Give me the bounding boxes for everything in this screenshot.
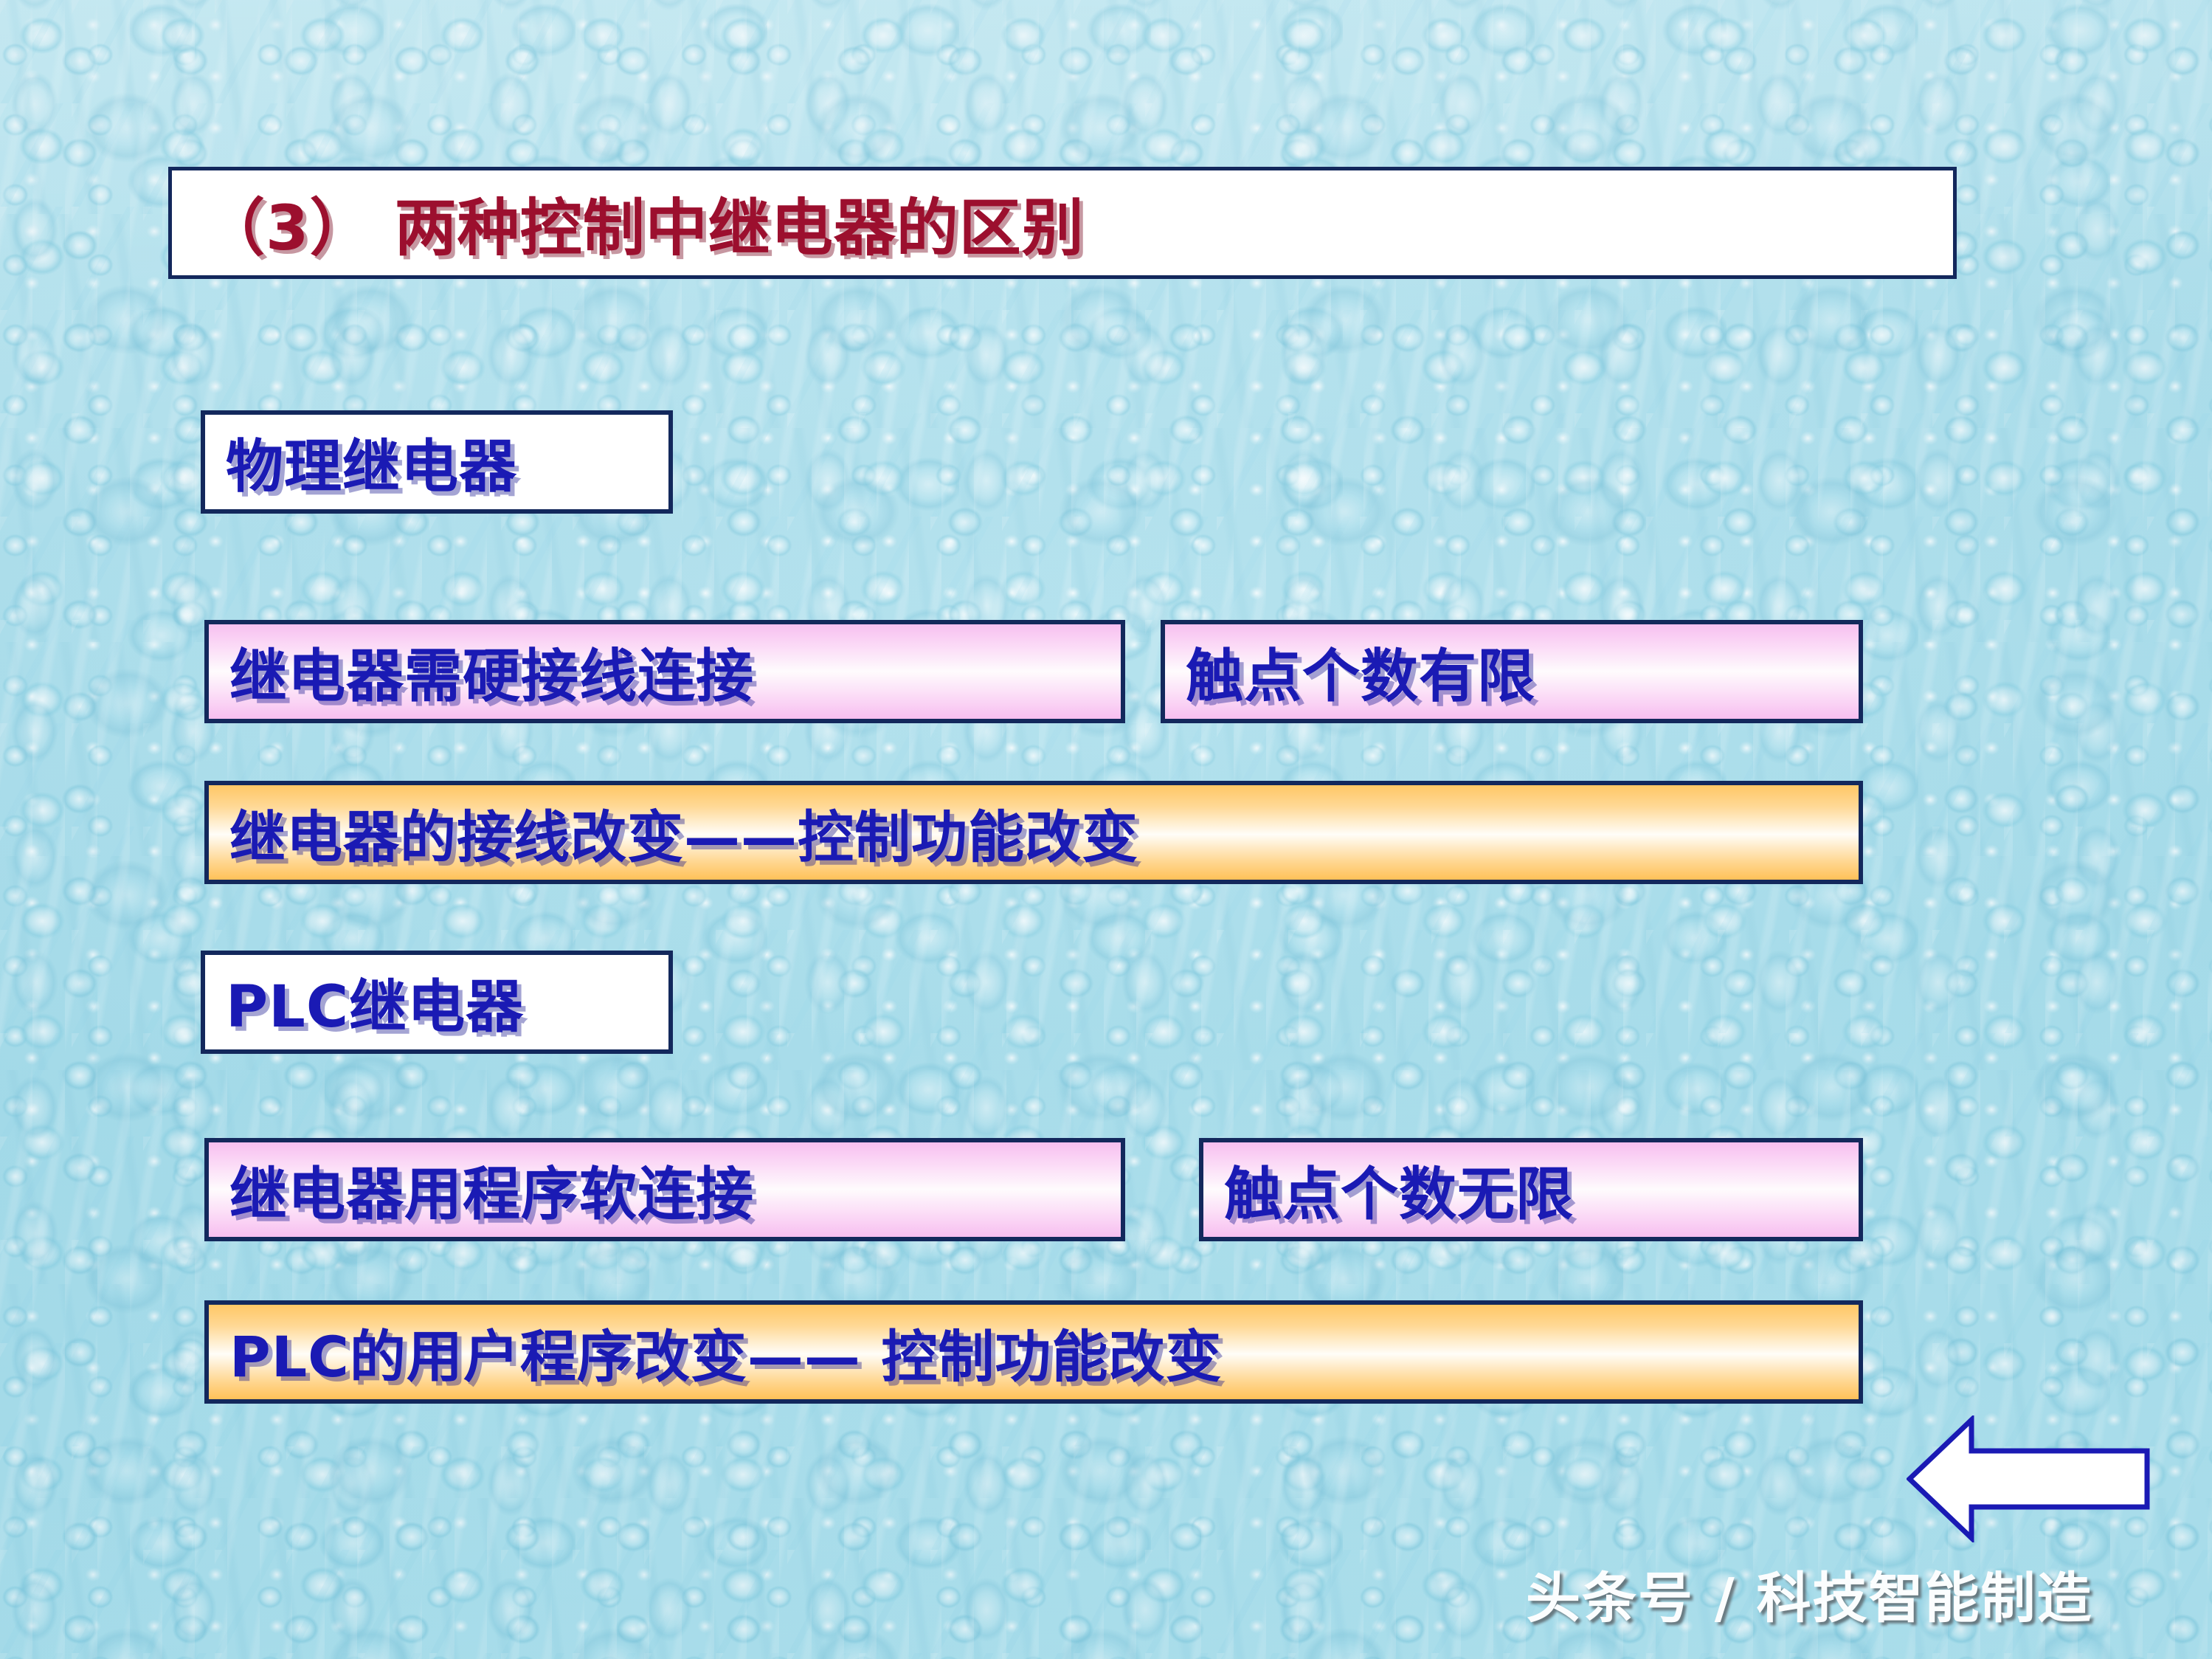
item-physical-wiring-change: 继电器的接线改变——控制功能改变 [204,781,1863,884]
page-title: （3） 两种控制中继电器的区别 [172,179,1085,268]
section-heading-physical-relay: 物理继电器 [201,410,673,514]
item-label: 触点个数有限 [1165,630,1535,713]
section-heading-plc-relay: PLC继电器 [201,951,673,1054]
item-physical-contact-limited: 触点个数有限 [1161,620,1863,723]
watermark: 头条号 / 科技智能制造 [1526,1554,2093,1633]
item-plc-program-change: PLC的用户程序改变—— 控制功能改变 [204,1300,1863,1404]
item-label: 继电器需硬接线连接 [209,630,754,713]
item-plc-contact-unlimited: 触点个数无限 [1199,1138,1863,1241]
arrow-left-icon[interactable] [1907,1415,2150,1542]
slide-canvas: （3） 两种控制中继电器的区别 物理继电器 继电器需硬接线连接 触点个数有限 继… [0,0,2212,1659]
item-physical-hardwire: 继电器需硬接线连接 [204,620,1125,723]
item-plc-software-link: 继电器用程序软连接 [204,1138,1125,1241]
page-title-box: （3） 两种控制中继电器的区别 [168,167,1957,279]
section-heading-label: PLC继电器 [205,961,524,1044]
item-label: 继电器的接线改变——控制功能改变 [209,792,1138,873]
section-heading-label: 物理继电器 [205,421,517,503]
item-label: PLC的用户程序改变—— 控制功能改变 [209,1311,1222,1393]
arrow-left-shape [1909,1420,2147,1538]
item-label: 继电器用程序软连接 [209,1148,754,1231]
item-label: 触点个数无限 [1203,1148,1574,1231]
